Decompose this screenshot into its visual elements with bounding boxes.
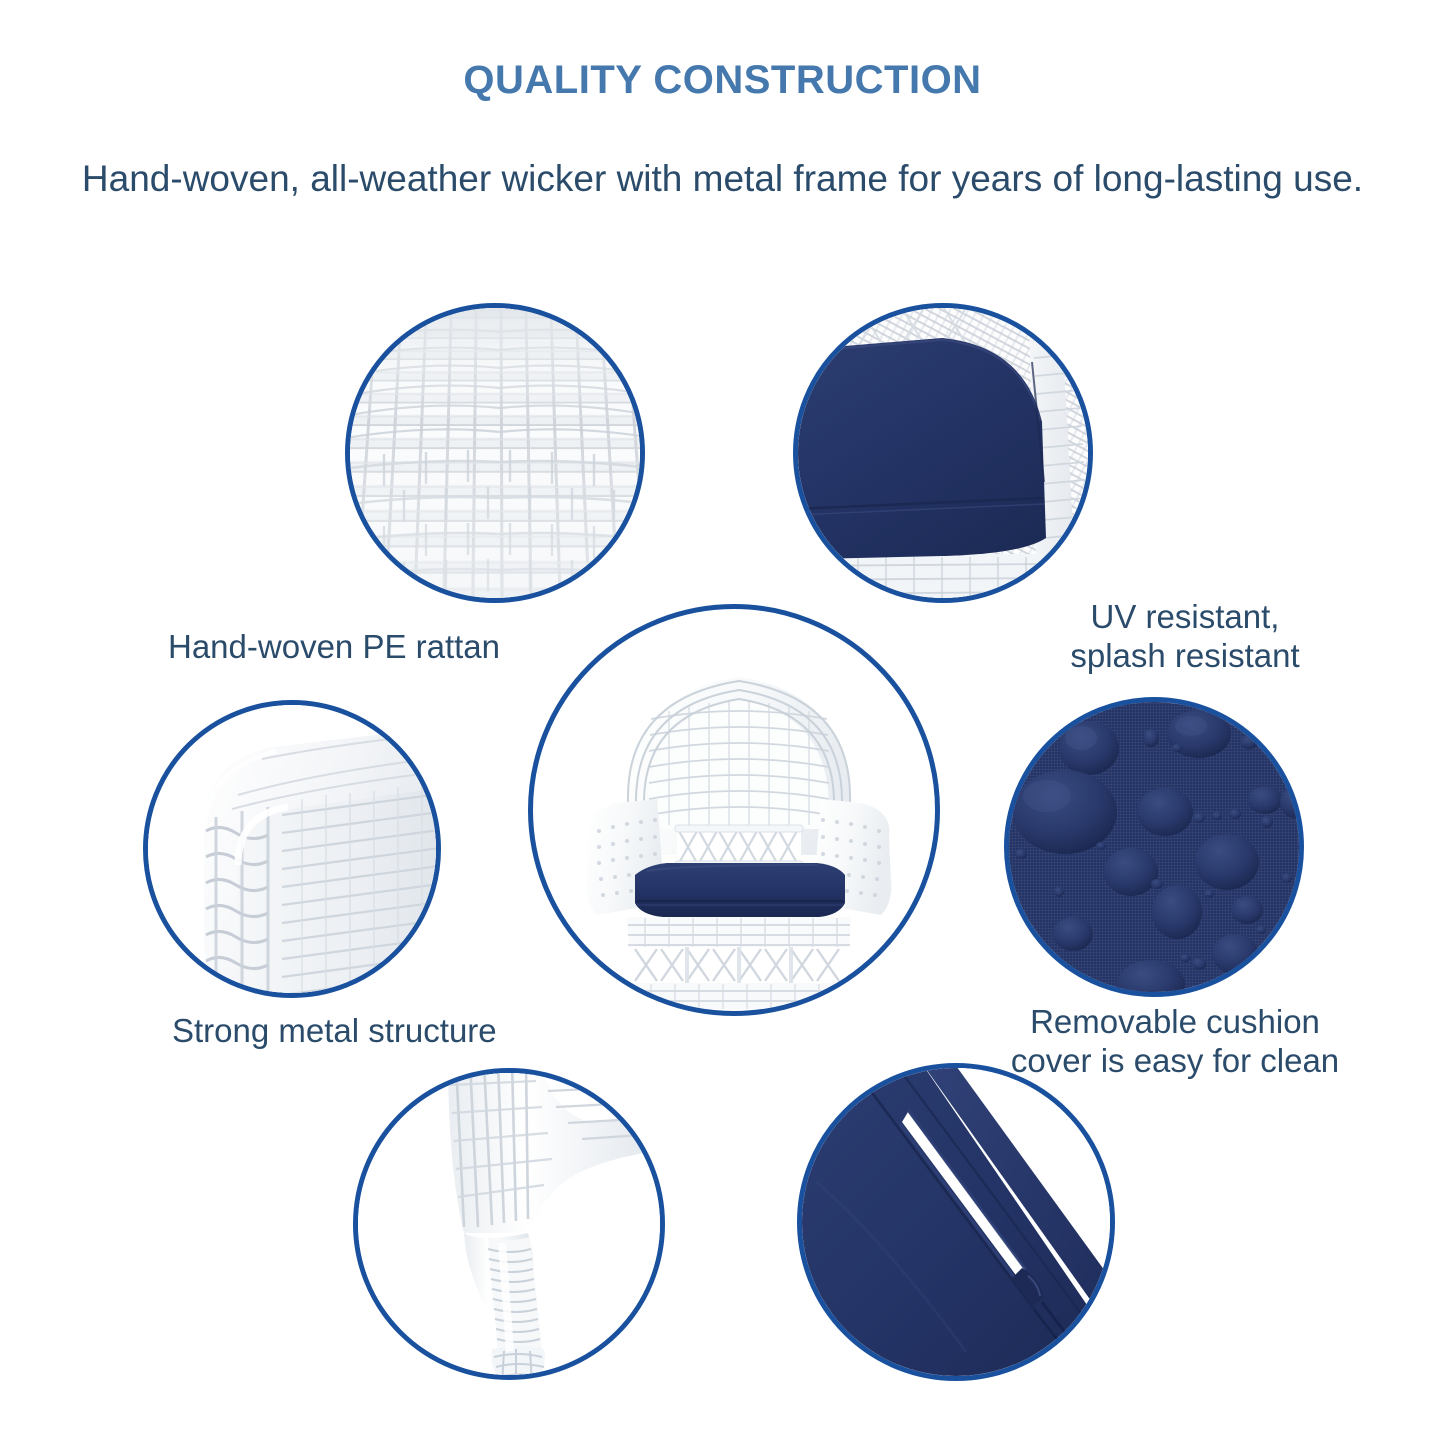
zipper-photo xyxy=(797,1063,1115,1381)
wicker-leg-photo xyxy=(353,1068,665,1380)
rattan-weave-texture xyxy=(345,303,645,603)
detail-image-cushion-zipper xyxy=(797,1063,1115,1381)
page-subtitle: Hand-woven, all-weather wicker with meta… xyxy=(0,158,1445,200)
feature-label-metal-structure: Strong metal structure xyxy=(172,1012,497,1051)
feature-image-rattan xyxy=(345,303,645,603)
feature-image-uv xyxy=(793,303,1093,603)
detail-image-chair-leg xyxy=(353,1068,665,1380)
cushion-on-wicker-photo xyxy=(793,303,1093,603)
wicker-arm-corner-photo xyxy=(143,700,441,998)
water-droplets-photo xyxy=(1004,697,1304,997)
feature-label-rattan: Hand-woven PE rattan xyxy=(168,628,500,667)
feature-label-uv: UV resistant, splash resistant xyxy=(1040,598,1330,676)
feature-image-metal-structure xyxy=(143,700,441,998)
page-title: QUALITY CONSTRUCTION xyxy=(0,58,1445,103)
center-product-image-chair xyxy=(528,604,940,1016)
wicker-armchair-photo xyxy=(528,604,940,1016)
feature-image-water-repellent xyxy=(1004,697,1304,997)
feature-label-removable-cushion: Removable cushion cover is easy for clea… xyxy=(1000,1003,1350,1081)
